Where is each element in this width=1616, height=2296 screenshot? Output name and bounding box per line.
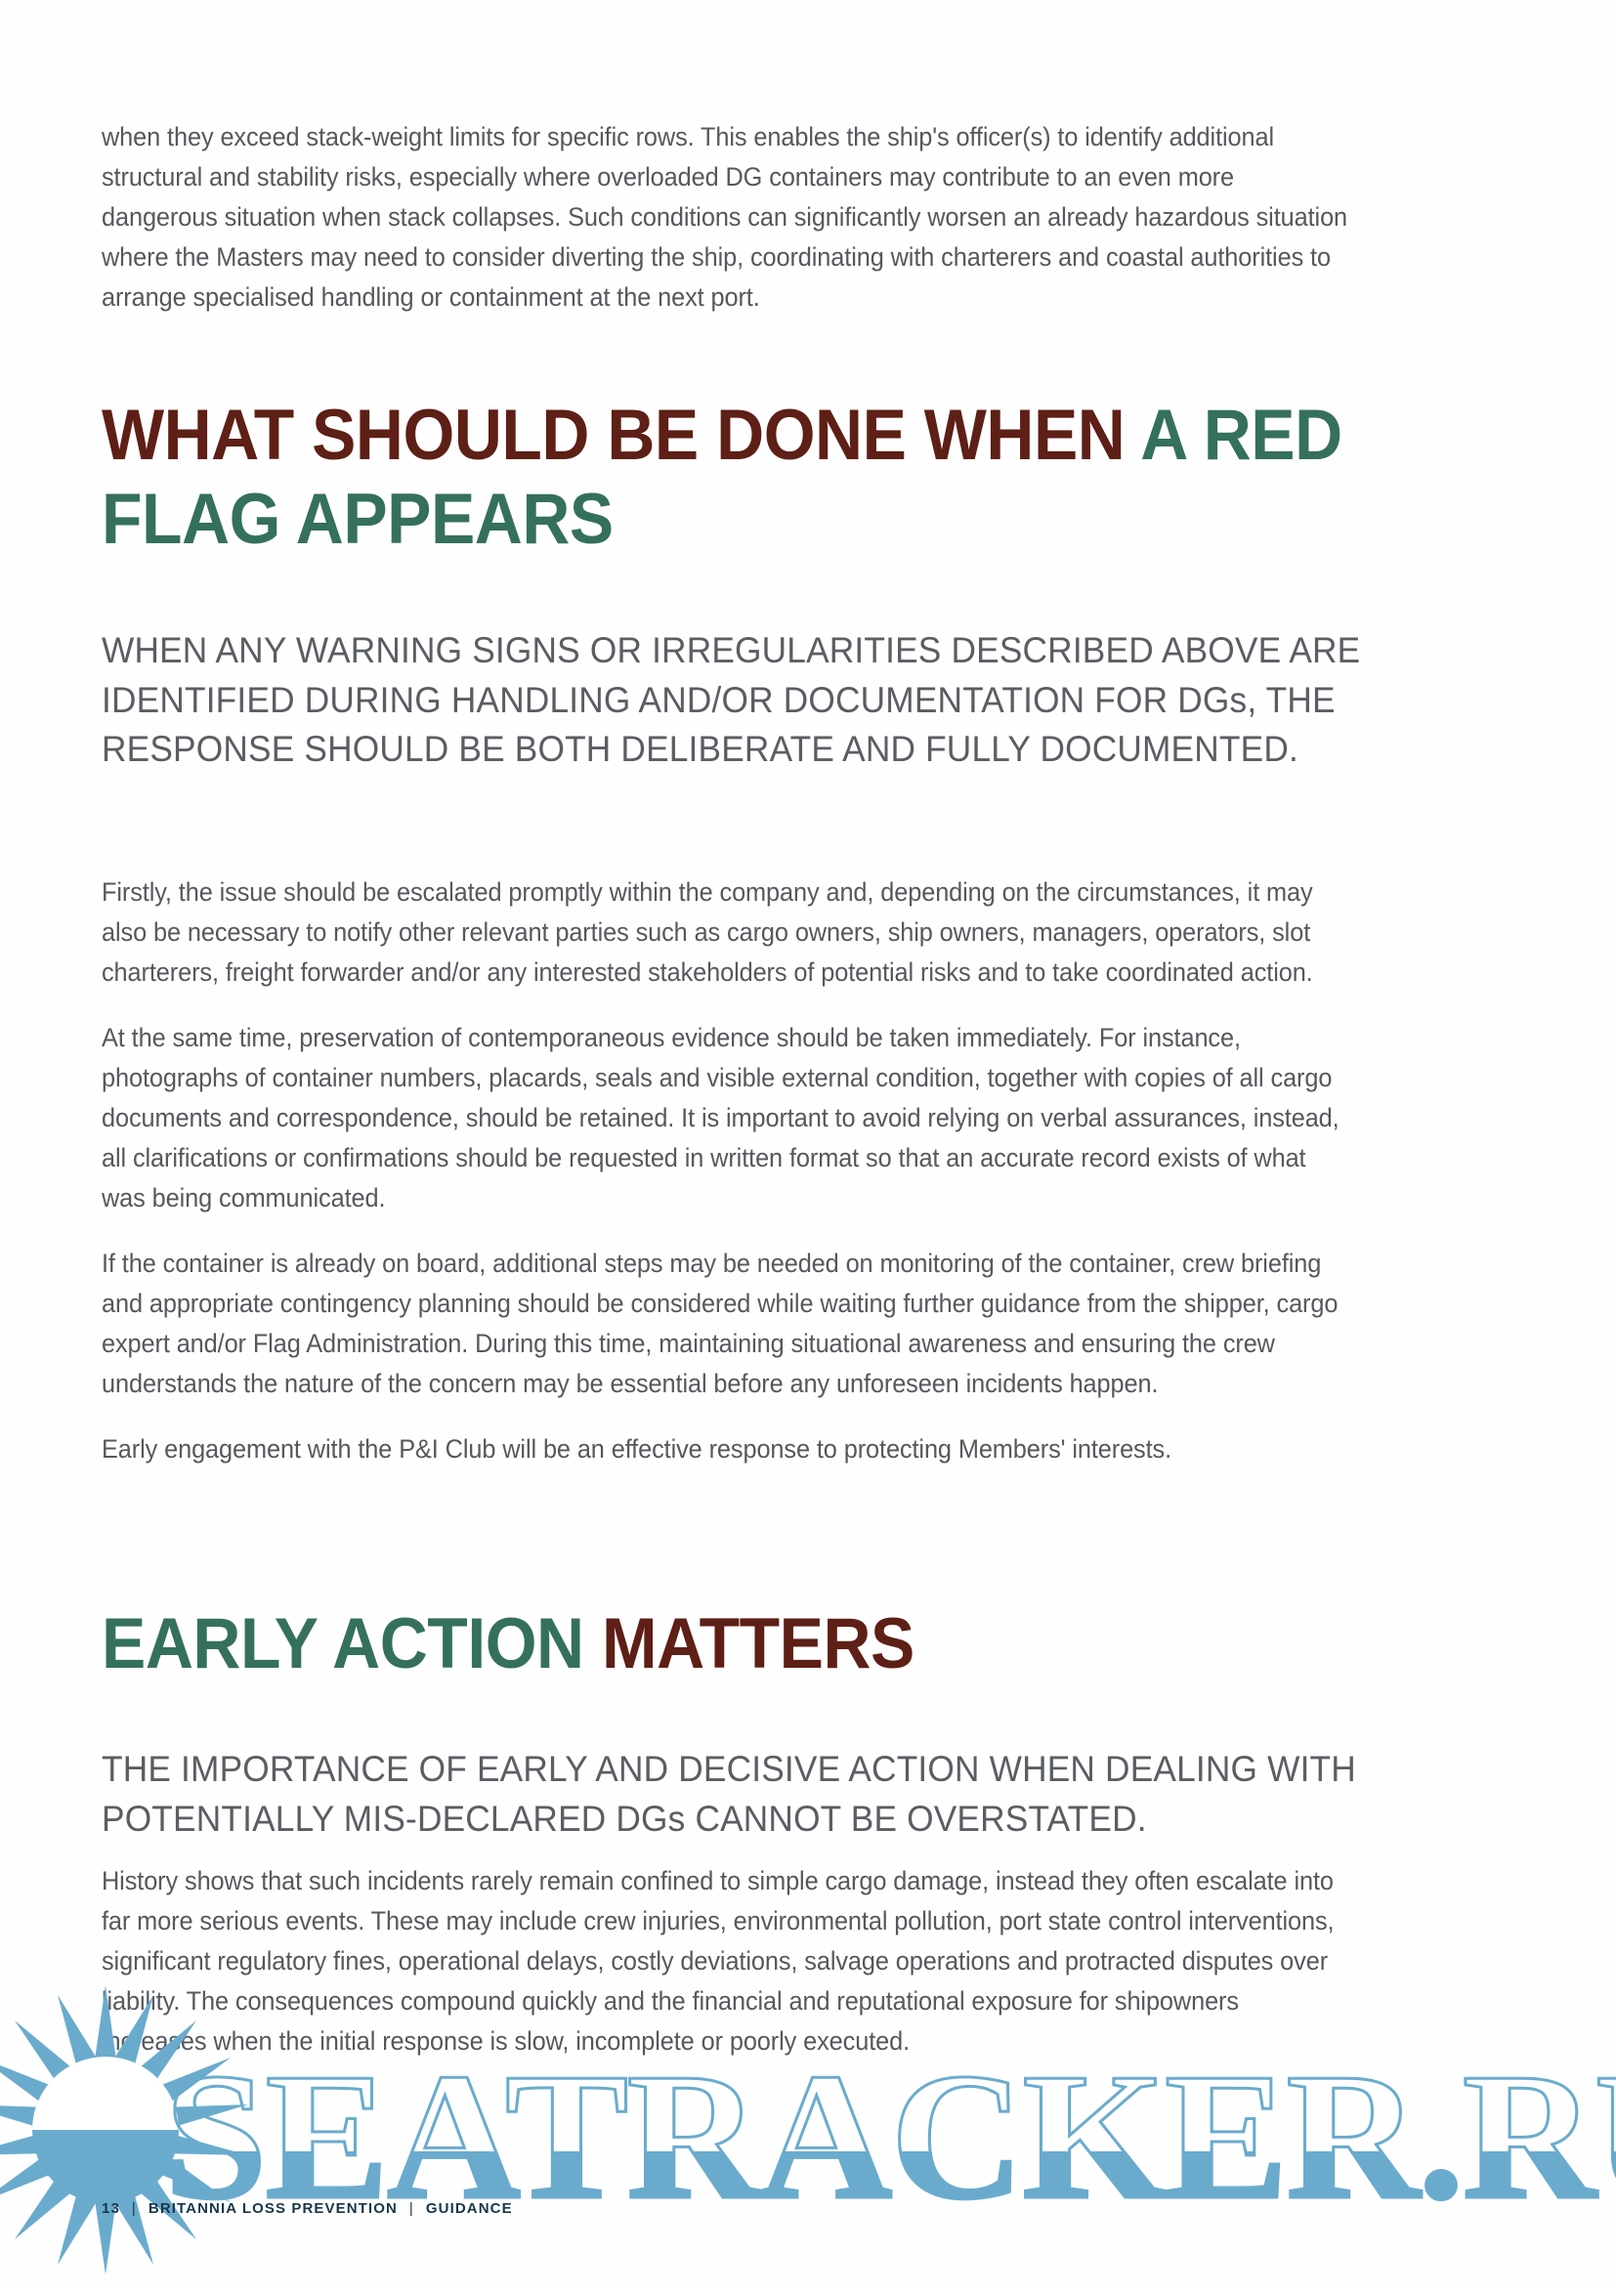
footer-separator-1: | — [132, 2200, 137, 2217]
section-one-paragraph-3: If the container is already on board, ad… — [102, 1244, 1350, 1404]
section-two-subheading-block: THE IMPORTANCE OF EARLY AND DECISIVE ACT… — [102, 1744, 1450, 1843]
page-content: when they exceed stack-weight limits for… — [102, 0, 1509, 2285]
top-paragraph-block: when they exceed stack-weight limits for… — [102, 117, 1409, 318]
footer-publication-name: BRITANNIA LOSS PREVENTION — [149, 2200, 398, 2217]
section-one-heading-red-part: WHAT SHOULD BE DONE WHEN — [102, 396, 1140, 475]
section-two-paragraph-1: History shows that such incidents rarely… — [102, 1861, 1350, 2062]
section-two-heading-block: EARLY ACTION MATTERS — [102, 1602, 1450, 1686]
section-one-subheading: WHEN ANY WARNING SIGNS OR IRREGULARITIES… — [102, 625, 1369, 774]
section-one-heading-block: WHAT SHOULD BE DONE WHEN A RED FLAG APPE… — [102, 394, 1450, 562]
section-one-paragraph-2: At the same time, preservation of contem… — [102, 1018, 1350, 1218]
section-one-body-block: Firstly, the issue should be escalated p… — [102, 872, 1409, 1469]
section-two-heading: EARLY ACTION MATTERS — [102, 1602, 1355, 1686]
section-one-subheading-block: WHEN ANY WARNING SIGNS OR IRREGULARITIES… — [102, 625, 1450, 774]
section-two-heading-green-part: EARLY ACTION — [102, 1604, 602, 1683]
page-footer: 13 | BRITANNIA LOSS PREVENTION | GUIDANC… — [102, 2200, 513, 2217]
top-paragraph: when they exceed stack-weight limits for… — [102, 117, 1350, 318]
footer-page-number: 13 — [102, 2200, 120, 2217]
section-one-paragraph-4: Early engagement with the P&I Club will … — [102, 1429, 1350, 1469]
document-page: when they exceed stack-weight limits for… — [0, 0, 1616, 2285]
section-one-paragraph-1: Firstly, the issue should be escalated p… — [102, 872, 1350, 993]
section-two-body-block: History shows that such incidents rarely… — [102, 1861, 1409, 2062]
section-one-heading: WHAT SHOULD BE DONE WHEN A RED FLAG APPE… — [102, 394, 1355, 562]
section-two-heading-red-part: MATTERS — [602, 1604, 914, 1683]
footer-separator-2: | — [409, 2200, 414, 2217]
section-two-subheading: THE IMPORTANCE OF EARLY AND DECISIVE ACT… — [102, 1744, 1369, 1843]
footer-section-name: GUIDANCE — [426, 2200, 513, 2217]
